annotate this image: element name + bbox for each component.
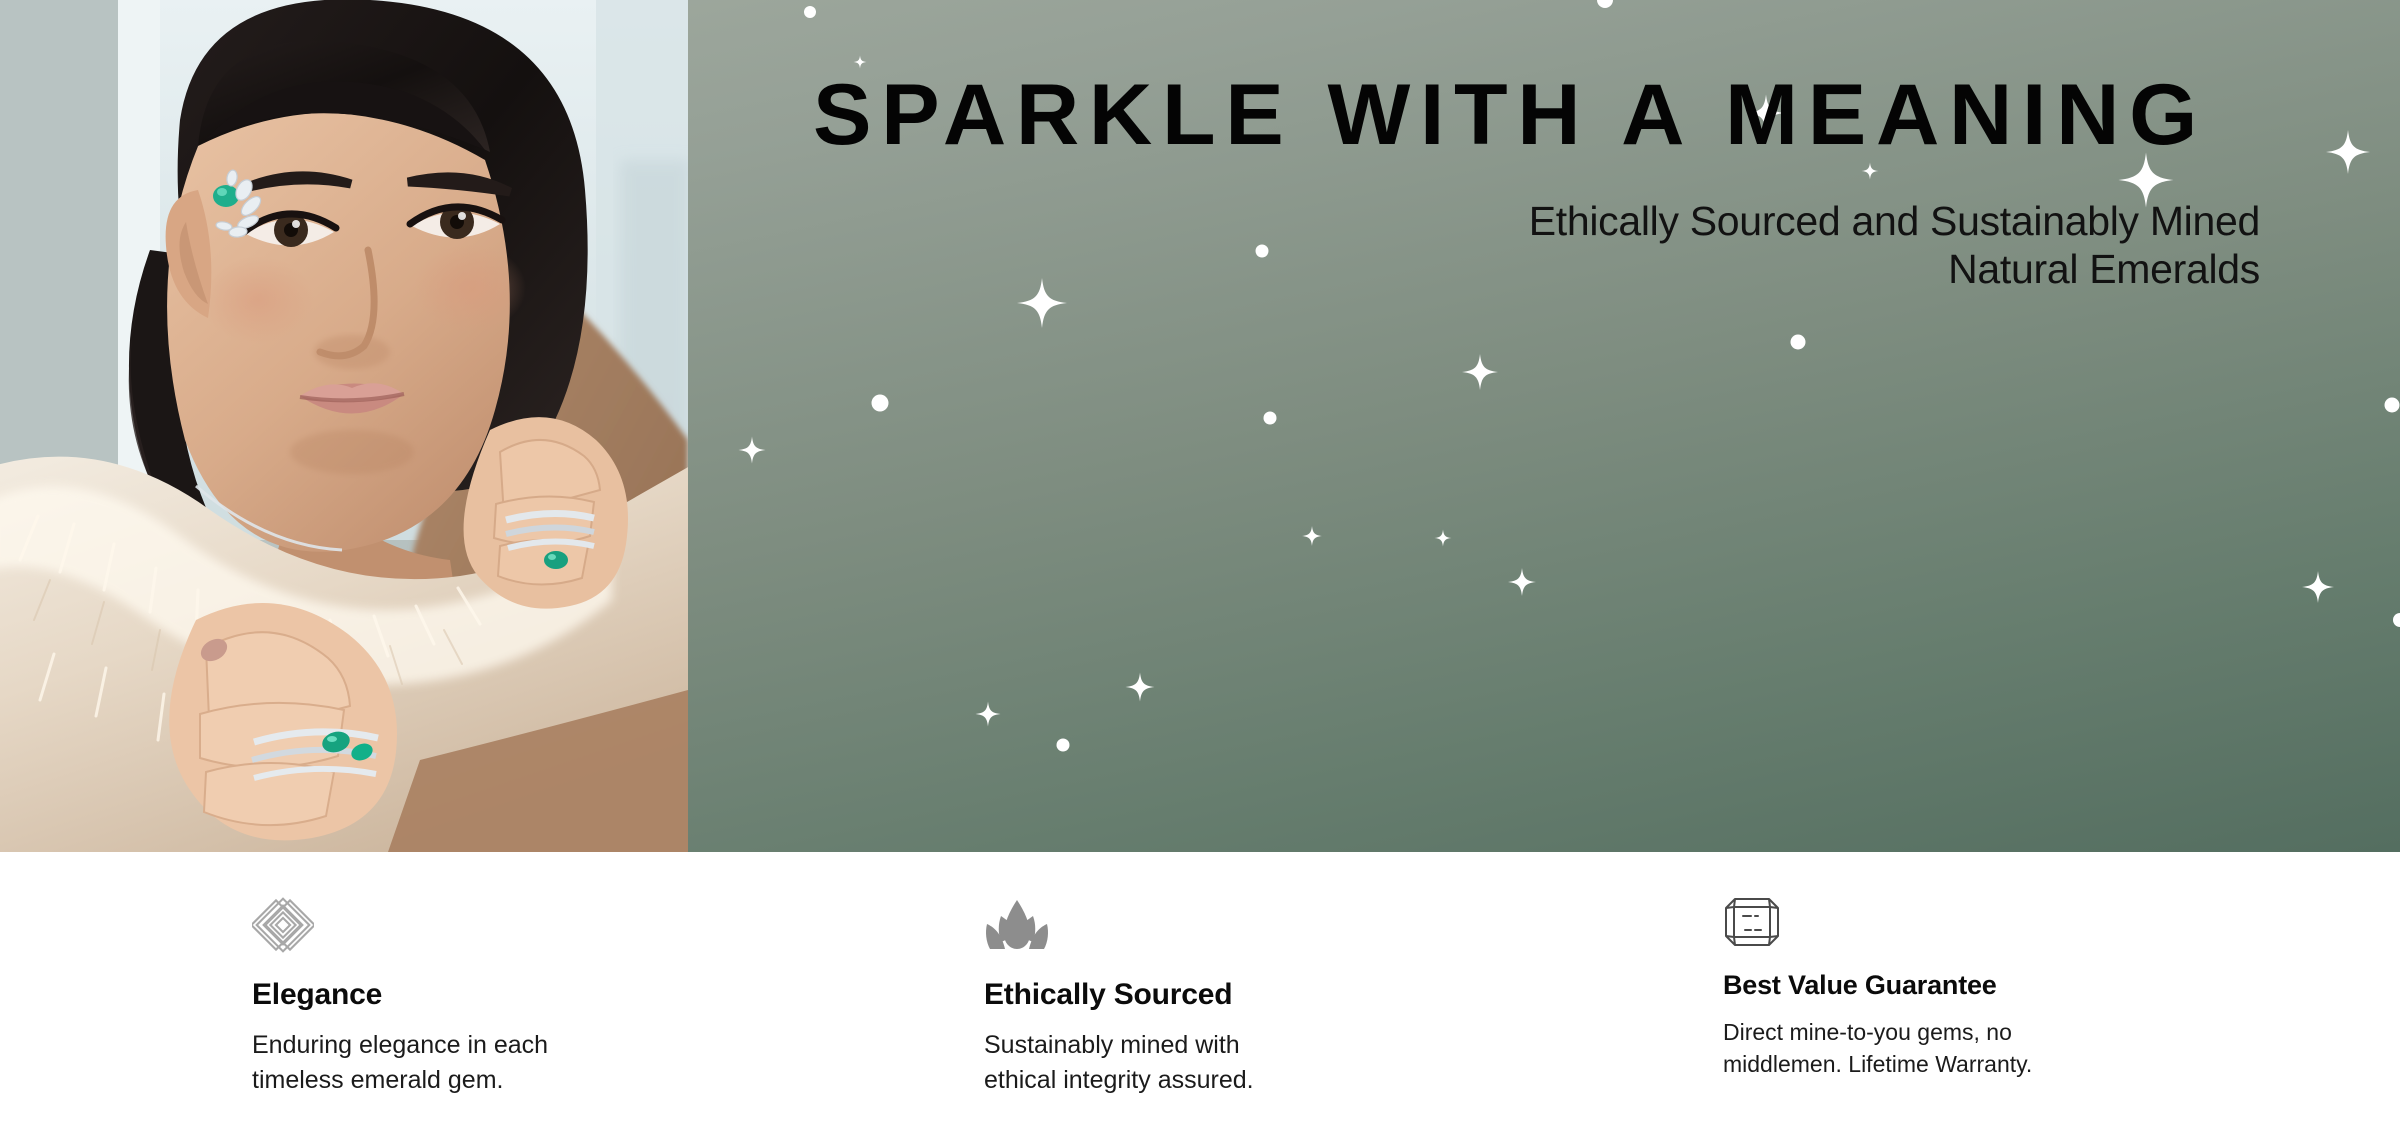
feature-card-elegance: Elegance Enduring elegance in each timel…: [252, 852, 712, 1097]
hero-subheadline-line-1: Ethically Sourced and Sustainably Mined: [760, 198, 2260, 246]
sparkle-star-icon: [2326, 130, 2370, 174]
sparkle-dot-icon: [872, 395, 889, 412]
feature-strip: Elegance Enduring elegance in each timel…: [0, 852, 2400, 1142]
hero-copy: SPARKLE WITH A MEANING Ethically Sourced…: [760, 70, 2260, 294]
landing-page: SPARKLE WITH A MEANING Ethically Sourced…: [0, 0, 2400, 1142]
sparkle-star-icon: [1435, 530, 1452, 547]
hero-subheadline: Ethically Sourced and Sustainably Mined …: [760, 198, 2260, 294]
sparkle-dot-icon: [1791, 335, 1806, 350]
sparkle-dot-icon: [804, 6, 816, 18]
sparkle-star-icon: [1126, 673, 1155, 702]
sparkle-star-icon: [976, 702, 1001, 727]
sparkle-dot-icon: [1597, 0, 1613, 8]
sparkle-star-icon: [1302, 526, 1322, 546]
hero-headline: SPARKLE WITH A MEANING: [745, 70, 2275, 160]
lotus-icon: [984, 884, 1444, 956]
feature-title: Ethically Sourced: [984, 978, 1444, 1012]
feature-title: Best Value Guarantee: [1723, 970, 2183, 1001]
feature-card-ethically-sourced: Ethically Sourced Sustainably mined with…: [984, 852, 1444, 1097]
feature-description: Enduring elegance in each timeless emera…: [252, 1028, 582, 1097]
hero-model-photo: [0, 0, 688, 852]
model-portrait-illustration: [0, 0, 688, 852]
sparkle-star-icon: [2302, 571, 2334, 603]
sparkle-star-icon: [739, 437, 766, 464]
sparkle-dot-icon: [1057, 739, 1070, 752]
sparkle-dot-icon: [2385, 398, 2400, 413]
sparkle-star-icon: [1462, 354, 1498, 390]
feature-description: Direct mine-to-you gems, no middlemen. L…: [1723, 1017, 2073, 1080]
sparkle-dot-icon: [2393, 613, 2400, 627]
hero-banner: SPARKLE WITH A MEANING Ethically Sourced…: [0, 0, 2400, 852]
sparkle-star-icon: [1508, 568, 1536, 596]
feature-card-best-value-guarantee: Best Value Guarantee Direct mine-to-you …: [1723, 844, 2183, 1080]
feature-description: Sustainably mined with ethical integrity…: [984, 1028, 1314, 1097]
diamond-outline-icon: [252, 884, 712, 956]
feature-title: Elegance: [252, 978, 712, 1012]
emerald-cut-gem-icon: [1723, 876, 2183, 948]
sparkle-dot-icon: [1264, 412, 1277, 425]
hero-subheadline-line-2: Natural Emeralds: [760, 246, 2260, 294]
